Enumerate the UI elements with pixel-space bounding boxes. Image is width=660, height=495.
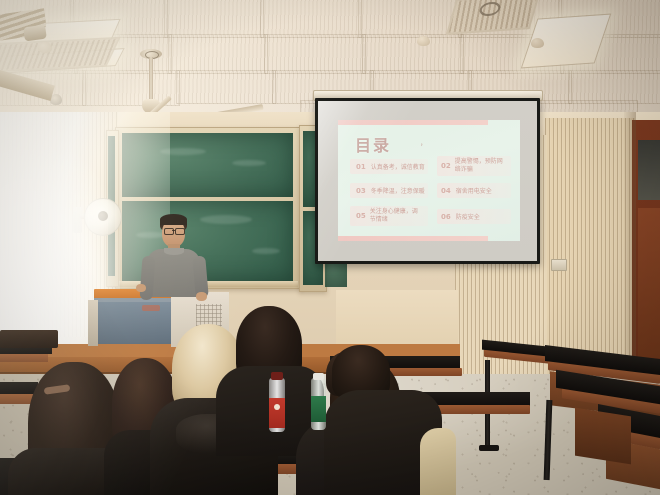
podium-side bbox=[88, 300, 98, 346]
wall-corner-shadow bbox=[624, 112, 636, 372]
teacher-hair-top bbox=[160, 214, 187, 225]
power-outlet[interactable] bbox=[551, 259, 567, 271]
door-panel[interactable] bbox=[638, 208, 660, 358]
desk-item-dark bbox=[0, 330, 58, 348]
teacher-torso bbox=[147, 249, 200, 297]
teacher-hand-left bbox=[136, 284, 146, 292]
desk-row-seat-dark bbox=[575, 408, 631, 465]
water-bottle-label bbox=[269, 398, 285, 428]
desk-foot bbox=[479, 445, 499, 451]
screen-glare bbox=[318, 101, 537, 261]
classroom-photo: 目录 ， 01 认真备考，诚信教育 02 提高警惕，预防网络诈骗 03 冬季降温… bbox=[0, 0, 660, 495]
ceiling-fan-rod bbox=[149, 57, 153, 101]
desk-left-mid-back bbox=[0, 382, 38, 394]
teacher-glasses-right bbox=[175, 228, 185, 235]
water-bottle-cap bbox=[271, 372, 283, 380]
teacher-hand-right bbox=[196, 292, 207, 301]
water-bottle-label bbox=[311, 396, 326, 422]
teacher-collar bbox=[164, 248, 184, 255]
podium-logo bbox=[142, 305, 160, 311]
water-bottle-label-mark bbox=[274, 404, 280, 410]
projector-screen-surface: 目录 ， 01 认真备考，诚信教育 02 提高警惕，预防网络诈骗 03 冬季降温… bbox=[318, 101, 537, 261]
student-scarf bbox=[420, 428, 456, 495]
teacher-glasses-bridge bbox=[172, 230, 175, 231]
door-window bbox=[638, 140, 660, 200]
water-bottle-cap bbox=[313, 373, 324, 380]
podium-front-edge bbox=[94, 298, 174, 302]
